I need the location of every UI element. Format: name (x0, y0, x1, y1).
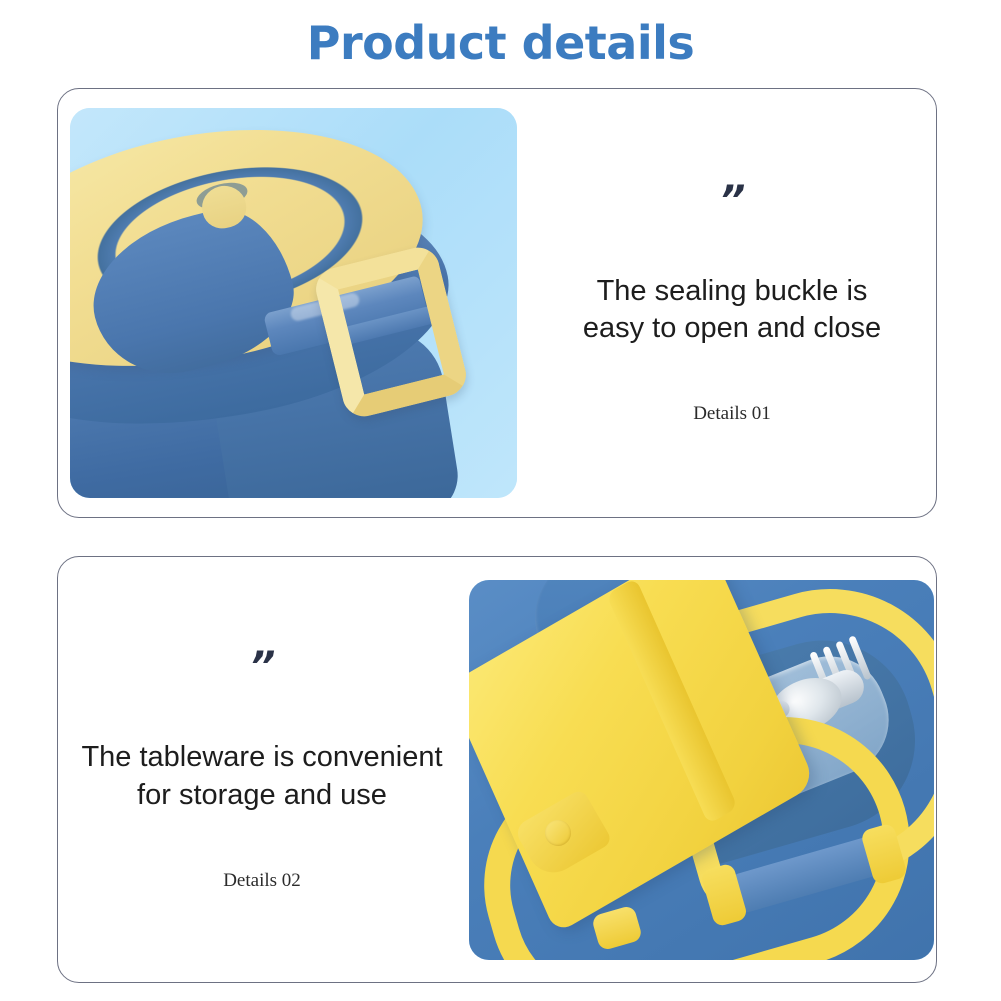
quote-icon: ” (720, 181, 745, 221)
detail-number-label: Details 02 (223, 870, 301, 892)
detail-card-01: ” The sealing buckle is easy to open and… (57, 88, 937, 518)
product-photo-pane-01 (58, 89, 528, 517)
detail-card-02: ” The tableware is convenient for storag… (57, 556, 937, 983)
page-title: Product details (0, 16, 1001, 70)
detail-text-pane-02: ” The tableware is convenient for storag… (58, 557, 466, 982)
product-photo-cutlery (469, 580, 934, 960)
detail-headline: The sealing buckle is easy to open and c… (567, 273, 897, 347)
quote-icon: ” (250, 647, 275, 687)
product-photo-pane-02 (466, 557, 936, 982)
detail-number-label: Details 01 (693, 403, 771, 425)
detail-text-pane-01: ” The sealing buckle is easy to open and… (528, 89, 936, 517)
detail-headline: The tableware is convenient for storage … (76, 739, 448, 813)
product-photo-buckle (70, 108, 517, 498)
